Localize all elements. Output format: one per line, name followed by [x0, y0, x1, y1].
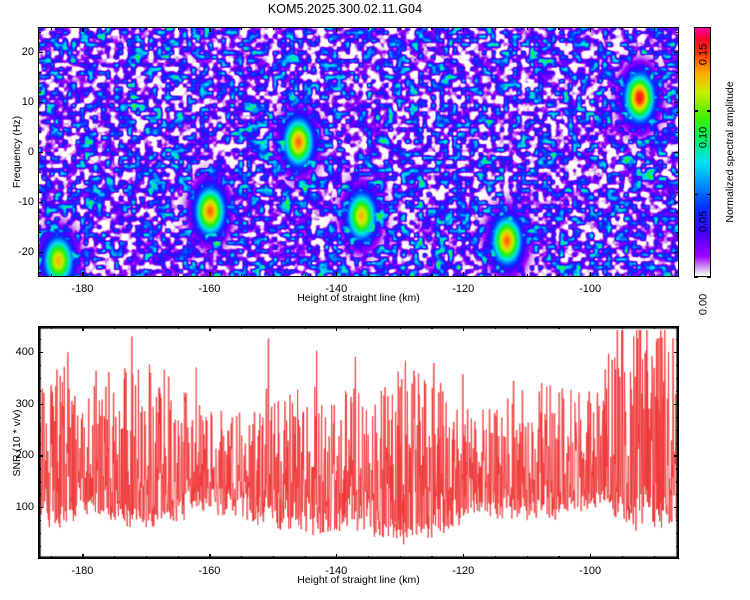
y-tick-minor [38, 494, 41, 495]
x-tick-minor [305, 274, 306, 277]
y-tick-minor [38, 132, 41, 133]
x-tick-minor-top [431, 326, 432, 329]
y-tick-minor-right [676, 468, 679, 469]
y-tick-minor-right [676, 112, 679, 113]
y-tick-major [38, 52, 43, 53]
x-tick-minor [400, 556, 401, 559]
y-tick-minor-right [676, 172, 679, 173]
x-tick-minor-top [558, 326, 559, 329]
y-tick-minor-right [676, 520, 679, 521]
x-tick-minor-top [146, 27, 147, 30]
y-tick-major [38, 202, 43, 203]
y-tick-label: -10 [4, 196, 34, 208]
y-tick-minor [38, 468, 41, 469]
x-tick-major-top [209, 326, 210, 331]
colorbar-tick-label: 0.15 [697, 44, 709, 65]
x-tick-minor [622, 274, 623, 277]
y-tick-major-right [674, 152, 679, 153]
colorbar-tick-left [694, 27, 698, 28]
y-tick-minor-right [676, 32, 679, 33]
x-tick-minor [273, 274, 274, 277]
colorbar-tick-label: 0.05 [697, 210, 709, 231]
y-tick-minor-right [676, 92, 679, 93]
x-tick-major [82, 272, 83, 277]
x-tick-minor-top [622, 27, 623, 30]
x-tick-minor [558, 274, 559, 277]
x-tick-minor-top [114, 27, 115, 30]
y-tick-minor [38, 172, 41, 173]
x-tick-label: -100 [579, 565, 601, 577]
x-tick-minor-top [622, 326, 623, 329]
spectrogram-image [39, 28, 678, 276]
spectrogram-y-axis-label: Frequency (Hz) [11, 116, 23, 188]
y-tick-minor-right [676, 192, 679, 193]
colorbar-tick-label: 0.10 [697, 127, 709, 148]
x-tick-major [463, 554, 464, 559]
x-tick-major [336, 272, 337, 277]
figure-root: KOM5.2025.300.02.11.G04 -180-160-140-120… [0, 0, 750, 600]
x-tick-minor [495, 556, 496, 559]
y-tick-minor-right [676, 494, 679, 495]
y-tick-minor [38, 546, 41, 547]
x-tick-major-top [463, 27, 464, 32]
y-tick-minor [38, 417, 41, 418]
x-tick-minor [114, 274, 115, 277]
x-tick-minor [146, 556, 147, 559]
x-tick-major-top [336, 326, 337, 331]
x-tick-minor [622, 556, 623, 559]
y-tick-minor [38, 32, 41, 33]
y-tick-minor-right [676, 212, 679, 213]
x-tick-major [209, 272, 210, 277]
y-tick-minor [38, 533, 41, 534]
y-tick-minor [38, 72, 41, 73]
x-tick-minor [495, 274, 496, 277]
x-tick-major-top [209, 27, 210, 32]
y-tick-major-right [674, 455, 679, 456]
x-tick-minor [305, 556, 306, 559]
y-tick-minor [38, 378, 41, 379]
spectrogram-x-axis-label: Height of straight line (km) [297, 292, 420, 304]
colorbar-tick-left [694, 194, 698, 195]
colorbar-gradient [695, 28, 710, 276]
y-tick-major [38, 455, 43, 456]
x-tick-minor [368, 556, 369, 559]
x-tick-major [82, 554, 83, 559]
y-tick-label: 300 [4, 398, 34, 410]
y-tick-minor-right [676, 72, 679, 73]
x-tick-minor-top [527, 326, 528, 329]
x-tick-minor-top [178, 326, 179, 329]
y-tick-minor-right [676, 391, 679, 392]
x-tick-minor-top [431, 27, 432, 30]
y-tick-minor [38, 232, 41, 233]
x-tick-minor [527, 274, 528, 277]
y-tick-major-right [674, 507, 679, 508]
x-tick-minor-top [146, 326, 147, 329]
y-tick-minor [38, 339, 41, 340]
x-tick-minor-top [305, 27, 306, 30]
x-tick-minor-top [241, 326, 242, 329]
x-tick-minor [178, 556, 179, 559]
x-tick-minor-top [654, 326, 655, 329]
x-tick-label: -100 [579, 283, 601, 295]
y-tick-minor-right [676, 132, 679, 133]
y-tick-major-right [674, 202, 679, 203]
x-tick-minor-top [178, 27, 179, 30]
x-tick-minor-top [51, 326, 52, 329]
y-tick-label: 100 [4, 501, 34, 513]
x-tick-minor [51, 556, 52, 559]
y-tick-major [38, 404, 43, 405]
x-tick-minor-top [273, 326, 274, 329]
x-tick-minor-top [527, 27, 528, 30]
x-tick-minor [241, 274, 242, 277]
x-tick-label: -120 [452, 283, 474, 295]
y-tick-minor-right [676, 546, 679, 547]
x-tick-minor [431, 274, 432, 277]
x-tick-minor-top [273, 27, 274, 30]
y-tick-label: 400 [4, 346, 34, 358]
page-title: KOM5.2025.300.02.11.G04 [0, 2, 690, 16]
x-tick-major-top [82, 326, 83, 331]
x-tick-major [463, 272, 464, 277]
x-tick-minor [431, 556, 432, 559]
y-tick-major [38, 152, 43, 153]
y-tick-minor [38, 272, 41, 273]
x-tick-label: -180 [71, 283, 93, 295]
colorbar-tick-label: 0.00 [697, 294, 709, 315]
x-tick-minor-top [400, 27, 401, 30]
snr-y-axis-label: SNR (10 * v/v) [11, 409, 23, 476]
colorbar-tick-left [694, 277, 698, 278]
y-tick-minor-right [676, 232, 679, 233]
y-tick-major-right [674, 102, 679, 103]
snr-trace [39, 327, 678, 558]
y-tick-major-right [674, 404, 679, 405]
x-tick-minor-top [368, 326, 369, 329]
x-tick-minor [400, 274, 401, 277]
y-tick-major-right [674, 52, 679, 53]
x-tick-major [590, 272, 591, 277]
x-tick-label: -160 [198, 565, 220, 577]
y-tick-minor-right [676, 378, 679, 379]
y-tick-minor [38, 112, 41, 113]
y-tick-minor-right [676, 481, 679, 482]
x-tick-minor [114, 556, 115, 559]
x-tick-minor-top [495, 326, 496, 329]
x-tick-minor [654, 274, 655, 277]
y-tick-minor-right [676, 339, 679, 340]
x-tick-minor-top [241, 27, 242, 30]
x-tick-minor [51, 274, 52, 277]
snr-x-axis-label: Height of straight line (km) [297, 574, 420, 586]
x-tick-minor [178, 274, 179, 277]
y-tick-major-right [674, 252, 679, 253]
y-tick-minor [38, 430, 41, 431]
colorbar-tick [707, 277, 711, 278]
colorbar-tick [707, 110, 711, 111]
y-tick-major [38, 102, 43, 103]
y-tick-minor-right [676, 272, 679, 273]
x-tick-minor-top [114, 326, 115, 329]
x-tick-minor-top [654, 27, 655, 30]
colorbar-tick [707, 194, 711, 195]
x-tick-minor [368, 274, 369, 277]
spectrogram-plot-area [38, 27, 679, 277]
colorbar-tick-left [694, 110, 698, 111]
x-tick-minor [558, 556, 559, 559]
y-tick-label: -20 [4, 246, 34, 258]
y-tick-major [38, 252, 43, 253]
y-tick-minor-right [676, 443, 679, 444]
y-tick-minor [38, 192, 41, 193]
colorbar-title: Normalized spectral amplitude [724, 81, 736, 222]
x-tick-major-top [590, 27, 591, 32]
x-tick-minor [527, 556, 528, 559]
y-tick-minor [38, 212, 41, 213]
y-tick-label: 10 [4, 96, 34, 108]
y-tick-minor-right [676, 430, 679, 431]
x-tick-minor [241, 556, 242, 559]
x-tick-label: -180 [71, 565, 93, 577]
y-tick-major [38, 352, 43, 353]
y-tick-major [38, 507, 43, 508]
x-tick-minor-top [368, 27, 369, 30]
colorbar-tick [707, 27, 711, 28]
x-tick-major-top [336, 27, 337, 32]
x-tick-minor-top [495, 27, 496, 30]
x-tick-minor-top [305, 326, 306, 329]
x-tick-minor [146, 274, 147, 277]
y-tick-minor-right [676, 365, 679, 366]
y-tick-minor [38, 443, 41, 444]
x-tick-major [336, 554, 337, 559]
x-tick-major [590, 554, 591, 559]
x-tick-minor [654, 556, 655, 559]
y-tick-minor-right [676, 417, 679, 418]
x-tick-minor-top [558, 27, 559, 30]
y-tick-label: 20 [4, 46, 34, 58]
y-tick-minor-right [676, 533, 679, 534]
x-tick-major-top [82, 27, 83, 32]
y-tick-minor [38, 520, 41, 521]
x-tick-major-top [590, 326, 591, 331]
y-tick-major-right [674, 352, 679, 353]
y-tick-minor [38, 391, 41, 392]
x-tick-major-top [463, 326, 464, 331]
y-tick-minor [38, 481, 41, 482]
y-tick-minor [38, 365, 41, 366]
x-tick-minor-top [51, 27, 52, 30]
x-tick-label: -120 [452, 565, 474, 577]
x-tick-minor-top [400, 326, 401, 329]
x-tick-minor [273, 556, 274, 559]
x-tick-label: -160 [198, 283, 220, 295]
snr-plot-area [38, 326, 679, 559]
x-tick-major [209, 554, 210, 559]
y-tick-minor [38, 92, 41, 93]
